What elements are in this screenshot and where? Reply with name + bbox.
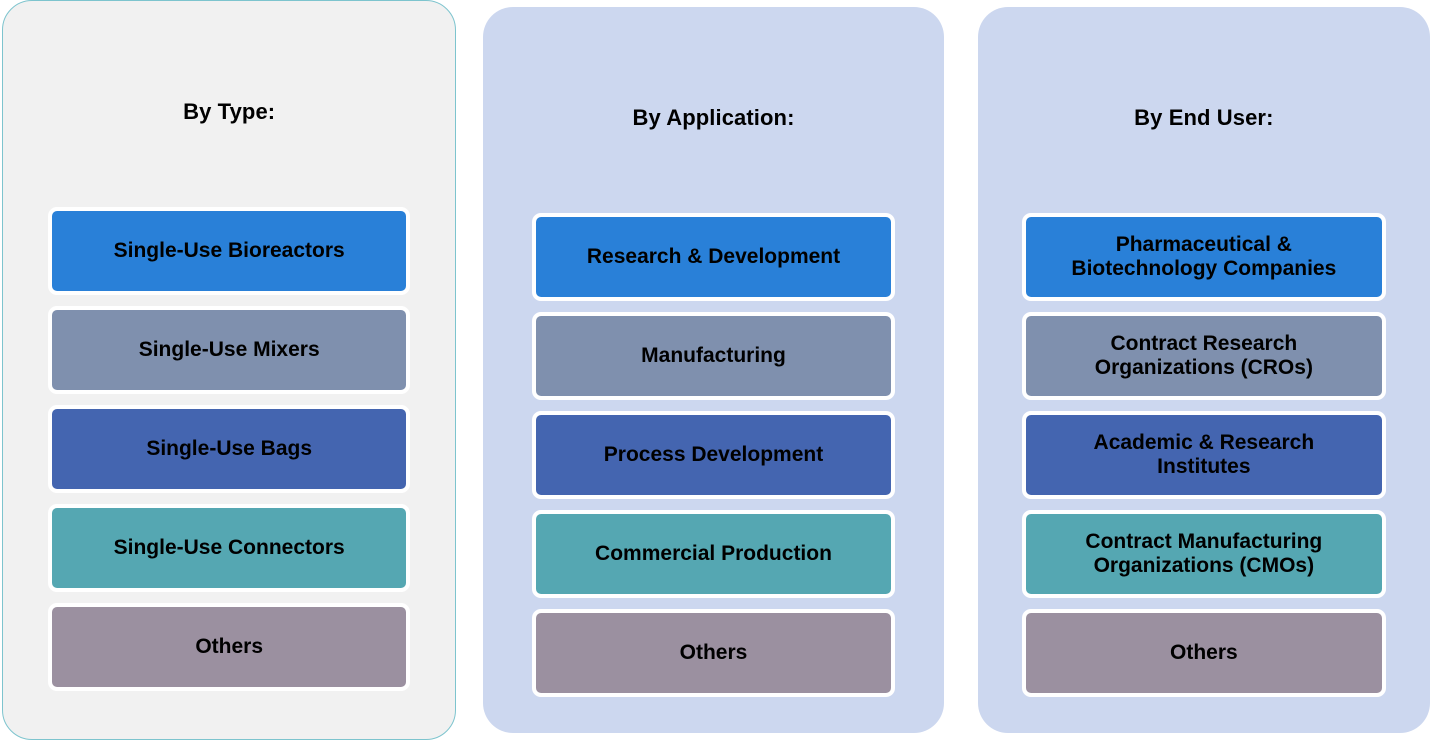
card-others-by-end-user[interactable]: Others: [1022, 609, 1386, 697]
card-label: Contract Manufacturing Organizations (CM…: [1085, 530, 1322, 578]
segment-panel-by-type: By Type: Single-Use Bioreactors Single-U…: [2, 0, 456, 740]
segment-panel-by-application: By Application: Research & Development M…: [483, 7, 943, 733]
card-others-by-type[interactable]: Others: [48, 603, 410, 691]
card-label: Commercial Production: [595, 542, 832, 566]
card-manufacturing[interactable]: Manufacturing: [532, 312, 895, 400]
card-commercial-production[interactable]: Commercial Production: [532, 510, 895, 598]
card-academic-research-institutes[interactable]: Academic & Research Institutes: [1022, 411, 1386, 499]
card-stack-by-type: Single-Use Bioreactors Single-Use Mixers…: [3, 207, 455, 691]
card-label: Research & Development: [587, 245, 840, 269]
card-pharmaceutical-biotechnology-companies[interactable]: Pharmaceutical & Biotechnology Companies: [1022, 213, 1386, 301]
card-label: Single-Use Bags: [146, 437, 312, 461]
card-others-by-application[interactable]: Others: [532, 609, 895, 697]
card-label: Pharmaceutical & Biotechnology Companies: [1071, 233, 1336, 281]
card-label: Single-Use Bioreactors: [114, 239, 345, 263]
card-label: Others: [195, 635, 263, 659]
panel-title-by-application: By Application:: [632, 105, 794, 131]
panel-title-by-end-user: By End User:: [1134, 105, 1273, 131]
card-process-development[interactable]: Process Development: [532, 411, 895, 499]
segment-panel-by-end-user: By End User: Pharmaceutical & Biotechnol…: [978, 7, 1430, 733]
card-single-use-connectors[interactable]: Single-Use Connectors: [48, 504, 410, 592]
card-label: Contract Research Organizations (CROs): [1095, 332, 1313, 380]
card-label: Others: [680, 641, 748, 665]
card-contract-manufacturing-organizations[interactable]: Contract Manufacturing Organizations (CM…: [1022, 510, 1386, 598]
card-research-and-development[interactable]: Research & Development: [532, 213, 895, 301]
card-label: Single-Use Connectors: [114, 536, 345, 560]
card-label: Manufacturing: [641, 344, 786, 368]
card-label: Others: [1170, 641, 1238, 665]
card-single-use-bioreactors[interactable]: Single-Use Bioreactors: [48, 207, 410, 295]
card-label: Academic & Research Institutes: [1094, 431, 1315, 479]
segmentation-diagram: By Type: Single-Use Bioreactors Single-U…: [0, 0, 1430, 740]
panel-title-by-type: By Type:: [183, 99, 275, 125]
card-stack-by-end-user: Pharmaceutical & Biotechnology Companies…: [978, 213, 1430, 697]
card-stack-by-application: Research & Development Manufacturing Pro…: [483, 213, 943, 697]
card-contract-research-organizations[interactable]: Contract Research Organizations (CROs): [1022, 312, 1386, 400]
card-label: Process Development: [604, 443, 823, 467]
card-single-use-mixers[interactable]: Single-Use Mixers: [48, 306, 410, 394]
card-single-use-bags[interactable]: Single-Use Bags: [48, 405, 410, 493]
card-label: Single-Use Mixers: [139, 338, 320, 362]
